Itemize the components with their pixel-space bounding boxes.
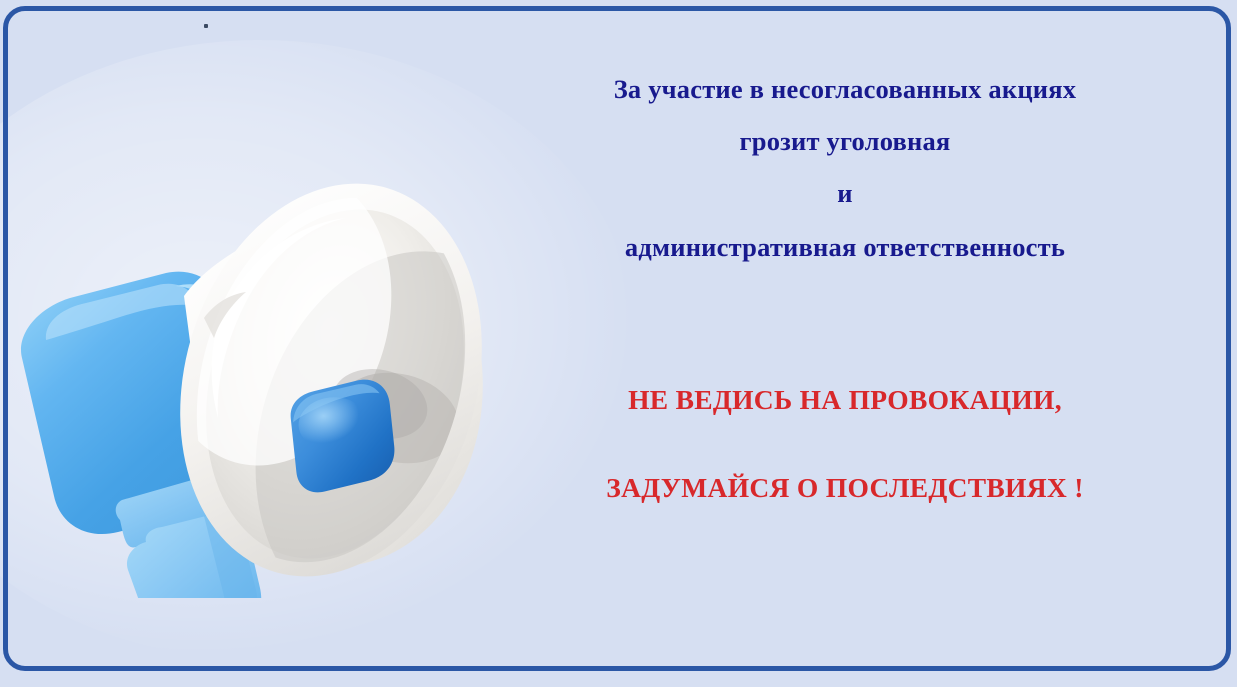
- headline-line-2: грозит уголовная: [520, 128, 1170, 155]
- megaphone-icon: [8, 118, 508, 598]
- poster-text-block: За участие в несогласованных акциях гроз…: [520, 52, 1170, 501]
- warning-line-1: НЕ ВЕДИСЬ НА ПРОВОКАЦИИ,: [520, 386, 1170, 414]
- image-artifact-speck: [204, 24, 208, 28]
- warning-text: НЕ ВЕДИСЬ НА ПРОВОКАЦИИ, ЗАДУМАЙСЯ О ПОС…: [520, 386, 1170, 501]
- headline-line-1: За участие в несогласованных акциях: [520, 76, 1170, 103]
- headline-line-4: административная ответственность: [520, 234, 1170, 261]
- poster-canvas: За участие в несогласованных акциях гроз…: [0, 0, 1237, 687]
- warning-line-2: ЗАДУМАЙСЯ О ПОСЛЕДСТВИЯХ !: [520, 474, 1170, 502]
- headline-line-3: и: [520, 180, 1170, 207]
- headline-text: За участие в несогласованных акциях гроз…: [520, 76, 1170, 260]
